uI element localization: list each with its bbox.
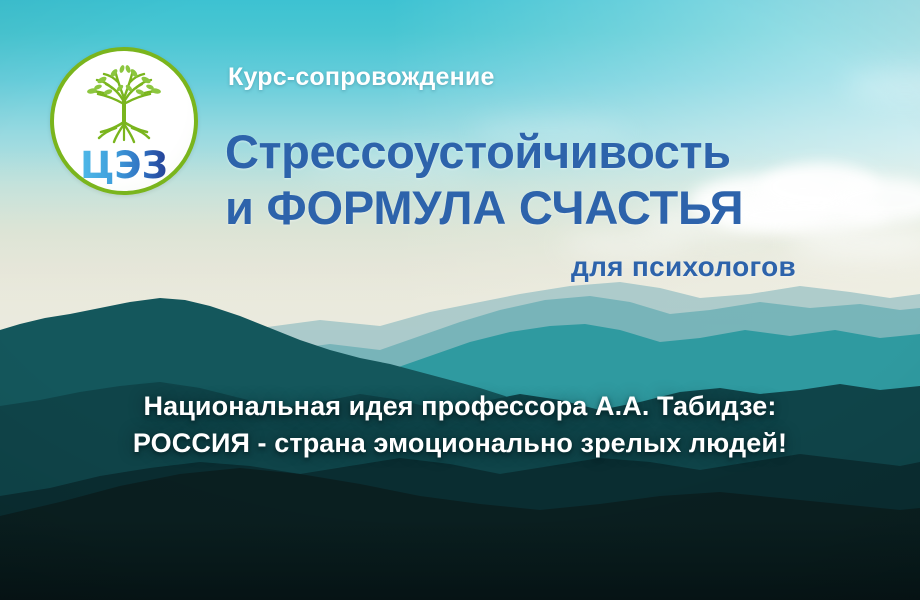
bottom-fill (0, 520, 920, 600)
slogan-block: Национальная идея профессора А.А. Табидз… (0, 388, 920, 462)
title-line-2: и ФОРМУЛА СЧАСТЬЯ (225, 180, 743, 235)
slogan-line-2: РОССИЯ - страна эмоционально зрелых люде… (0, 425, 920, 462)
headline-block: Курс-сопровождение Стрессоустойчивость и… (0, 0, 920, 300)
course-kicker: Курс-сопровождение (228, 63, 495, 92)
audience-subtitle: для психологов (0, 251, 796, 283)
title-line-1: Стрессоустойчивость (225, 124, 731, 179)
promo-banner: ЦЭЗ Курс-сопровождение Стрессоустойчивос… (0, 0, 920, 600)
slogan-line-1: Национальная идея профессора А.А. Табидз… (0, 388, 920, 425)
